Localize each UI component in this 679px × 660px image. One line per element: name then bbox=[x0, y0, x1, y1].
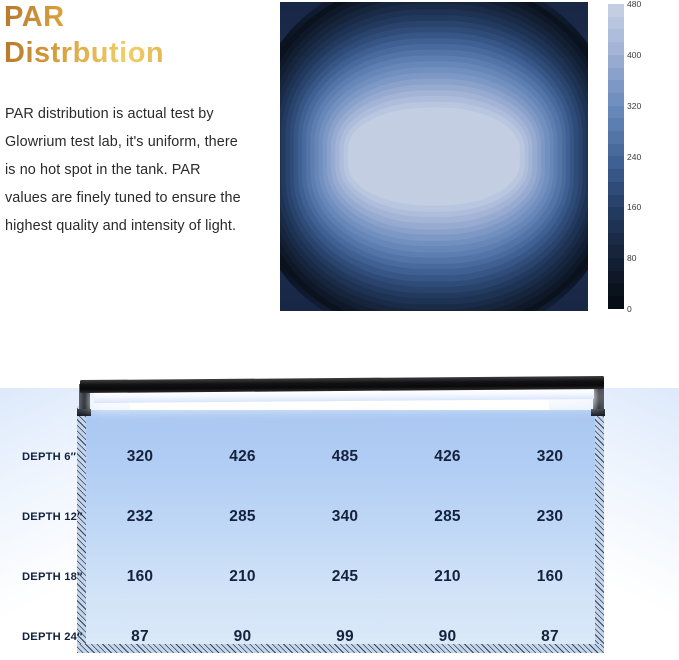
par-value-r3-c2: 210 bbox=[213, 568, 273, 586]
par-value-r2-c3: 340 bbox=[315, 508, 375, 526]
colorbar-band-20 bbox=[608, 258, 624, 271]
colorbar-band-17 bbox=[608, 220, 624, 233]
colorbar-gradient-strip bbox=[608, 4, 624, 309]
depth-value-group: 232285340285230 bbox=[110, 508, 580, 526]
depth-row: DEPTH 6″320426485426320 bbox=[0, 446, 679, 468]
intro-paragraph: PAR distribution is actual test by Glowr… bbox=[5, 100, 245, 240]
par-value-r2-c1: 232 bbox=[110, 508, 170, 526]
depth-row: DEPTH 12″232285340285230 bbox=[0, 506, 679, 528]
page-title-line-2: Distrbution bbox=[4, 38, 274, 68]
intro-paragraph-text: PAR distribution is actual test by Glowr… bbox=[5, 100, 245, 240]
colorbar-band-18 bbox=[608, 233, 624, 246]
colorbar-band-7 bbox=[608, 93, 624, 106]
page-title-line-1: PAR bbox=[4, 2, 274, 32]
colorbar-band-2 bbox=[608, 29, 624, 42]
colorbar-band-15 bbox=[608, 195, 624, 208]
page-title: PAR Distrbution bbox=[4, 2, 274, 69]
par-value-r4-c5: 87 bbox=[520, 628, 580, 646]
colorbar-tick-0: 0 bbox=[627, 304, 632, 314]
colorbar-tick-240: 240 bbox=[627, 152, 641, 162]
par-contour-plot bbox=[280, 2, 588, 311]
depth-row: DEPTH 18″160210245210160 bbox=[0, 566, 679, 588]
colorbar-band-6 bbox=[608, 80, 624, 93]
par-value-r1-c3: 485 bbox=[315, 448, 375, 466]
par-value-r2-c2: 285 bbox=[213, 508, 273, 526]
colorbar-band-8 bbox=[608, 106, 624, 119]
tank-depth-diagram: DEPTH 6″320426485426320DEPTH 12″23228534… bbox=[0, 350, 679, 660]
colorbar-tick-320: 320 bbox=[627, 101, 641, 111]
par-value-r4-c3: 99 bbox=[315, 628, 375, 646]
colorbar-tick-80: 80 bbox=[627, 253, 636, 263]
par-value-r1-c5: 320 bbox=[520, 448, 580, 466]
colorbar-band-21 bbox=[608, 271, 624, 284]
depth-value-group: 160210245210160 bbox=[110, 568, 580, 586]
depth-row-group: DEPTH 6″320426485426320DEPTH 12″23228534… bbox=[0, 410, 679, 648]
colorbar-band-16 bbox=[608, 207, 624, 220]
colorbar-band-22 bbox=[608, 283, 624, 296]
colorbar-band-4 bbox=[608, 55, 624, 68]
colorbar-band-19 bbox=[608, 245, 624, 258]
colorbar-band-14 bbox=[608, 182, 624, 195]
colorbar-tick-160: 160 bbox=[627, 202, 641, 212]
colorbar-tick-400: 400 bbox=[627, 50, 641, 60]
depth-label-3: DEPTH 18″ bbox=[22, 571, 83, 583]
colorbar-legend: 480400320240160800 PAR VALUE bbox=[608, 4, 674, 309]
colorbar-band-13 bbox=[608, 169, 624, 182]
colorbar-tick-480: 480 bbox=[627, 0, 641, 9]
depth-label-2: DEPTH 12″ bbox=[22, 511, 83, 523]
par-value-r1-c2: 426 bbox=[213, 448, 273, 466]
par-value-r3-c1: 160 bbox=[110, 568, 170, 586]
colorbar-band-23 bbox=[608, 296, 624, 309]
par-value-r4-c2: 90 bbox=[213, 628, 273, 646]
par-value-r3-c5: 160 bbox=[520, 568, 580, 586]
depth-value-group: 320426485426320 bbox=[110, 448, 580, 466]
par-value-r4-c1: 87 bbox=[110, 628, 170, 646]
depth-label-4: DEPTH 24″ bbox=[22, 631, 83, 643]
colorbar-band-5 bbox=[608, 68, 624, 81]
depth-row: DEPTH 24″8790999087 bbox=[0, 626, 679, 648]
colorbar-band-9 bbox=[608, 118, 624, 131]
depth-value-group: 8790999087 bbox=[110, 628, 580, 646]
par-value-r4-c4: 90 bbox=[418, 628, 478, 646]
colorbar-band-10 bbox=[608, 131, 624, 144]
colorbar-band-3 bbox=[608, 42, 624, 55]
par-value-r2-c5: 230 bbox=[520, 508, 580, 526]
par-value-r3-c3: 245 bbox=[315, 568, 375, 586]
colorbar-band-0 bbox=[608, 4, 624, 17]
contour-band-level-23 bbox=[348, 107, 520, 206]
colorbar-band-1 bbox=[608, 17, 624, 30]
depth-label-1: DEPTH 6″ bbox=[22, 451, 76, 463]
par-value-r2-c4: 285 bbox=[418, 508, 478, 526]
par-value-r3-c4: 210 bbox=[418, 568, 478, 586]
par-value-r1-c1: 320 bbox=[110, 448, 170, 466]
par-value-r1-c4: 426 bbox=[418, 448, 478, 466]
colorbar-band-12 bbox=[608, 156, 624, 169]
colorbar-band-11 bbox=[608, 144, 624, 157]
